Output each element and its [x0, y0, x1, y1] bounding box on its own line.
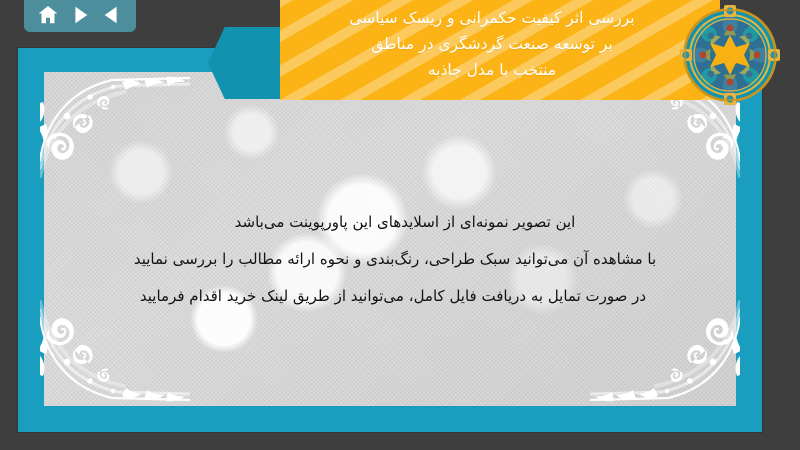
title-line-2: بر توسعه صنعت گردشگری در مناطق — [298, 31, 686, 57]
slide-frame: این تصویر نمونه‌ای از اسلایدهای این پاور… — [18, 48, 762, 432]
slide-body: این تصویر نمونه‌ای از اسلایدهای این پاور… — [44, 204, 736, 315]
navigation-bar — [24, 0, 136, 32]
body-line-3: در صورت تمایل به دریافت فایل کامل، می‌تو… — [78, 278, 702, 315]
slide-title: بررسی اثر کیفیت حکمرانی و ریسک سیاسی بر … — [280, 0, 720, 83]
forward-arrow-icon[interactable] — [67, 3, 93, 27]
home-icon[interactable] — [35, 3, 61, 27]
persian-mandala-medallion-icon — [678, 3, 782, 107]
slide-content-area: این تصویر نمونه‌ای از اسلایدهای این پاور… — [44, 72, 736, 406]
body-line-2: با مشاهده آن می‌توانید سبک طراحی، رنگ‌بن… — [78, 241, 702, 278]
title-line-3: منتخب با مدل جاذبه — [298, 57, 686, 83]
back-arrow-icon[interactable] — [99, 3, 125, 27]
body-line-1: این تصویر نمونه‌ای از اسلایدهای این پاور… — [78, 204, 702, 241]
title-line-1: بررسی اثر کیفیت حکمرانی و ریسک سیاسی — [298, 5, 686, 31]
title-banner: بررسی اثر کیفیت حکمرانی و ریسک سیاسی بر … — [280, 0, 720, 100]
slide-viewer: این تصویر نمونه‌ای از اسلایدهای این پاور… — [0, 0, 800, 450]
